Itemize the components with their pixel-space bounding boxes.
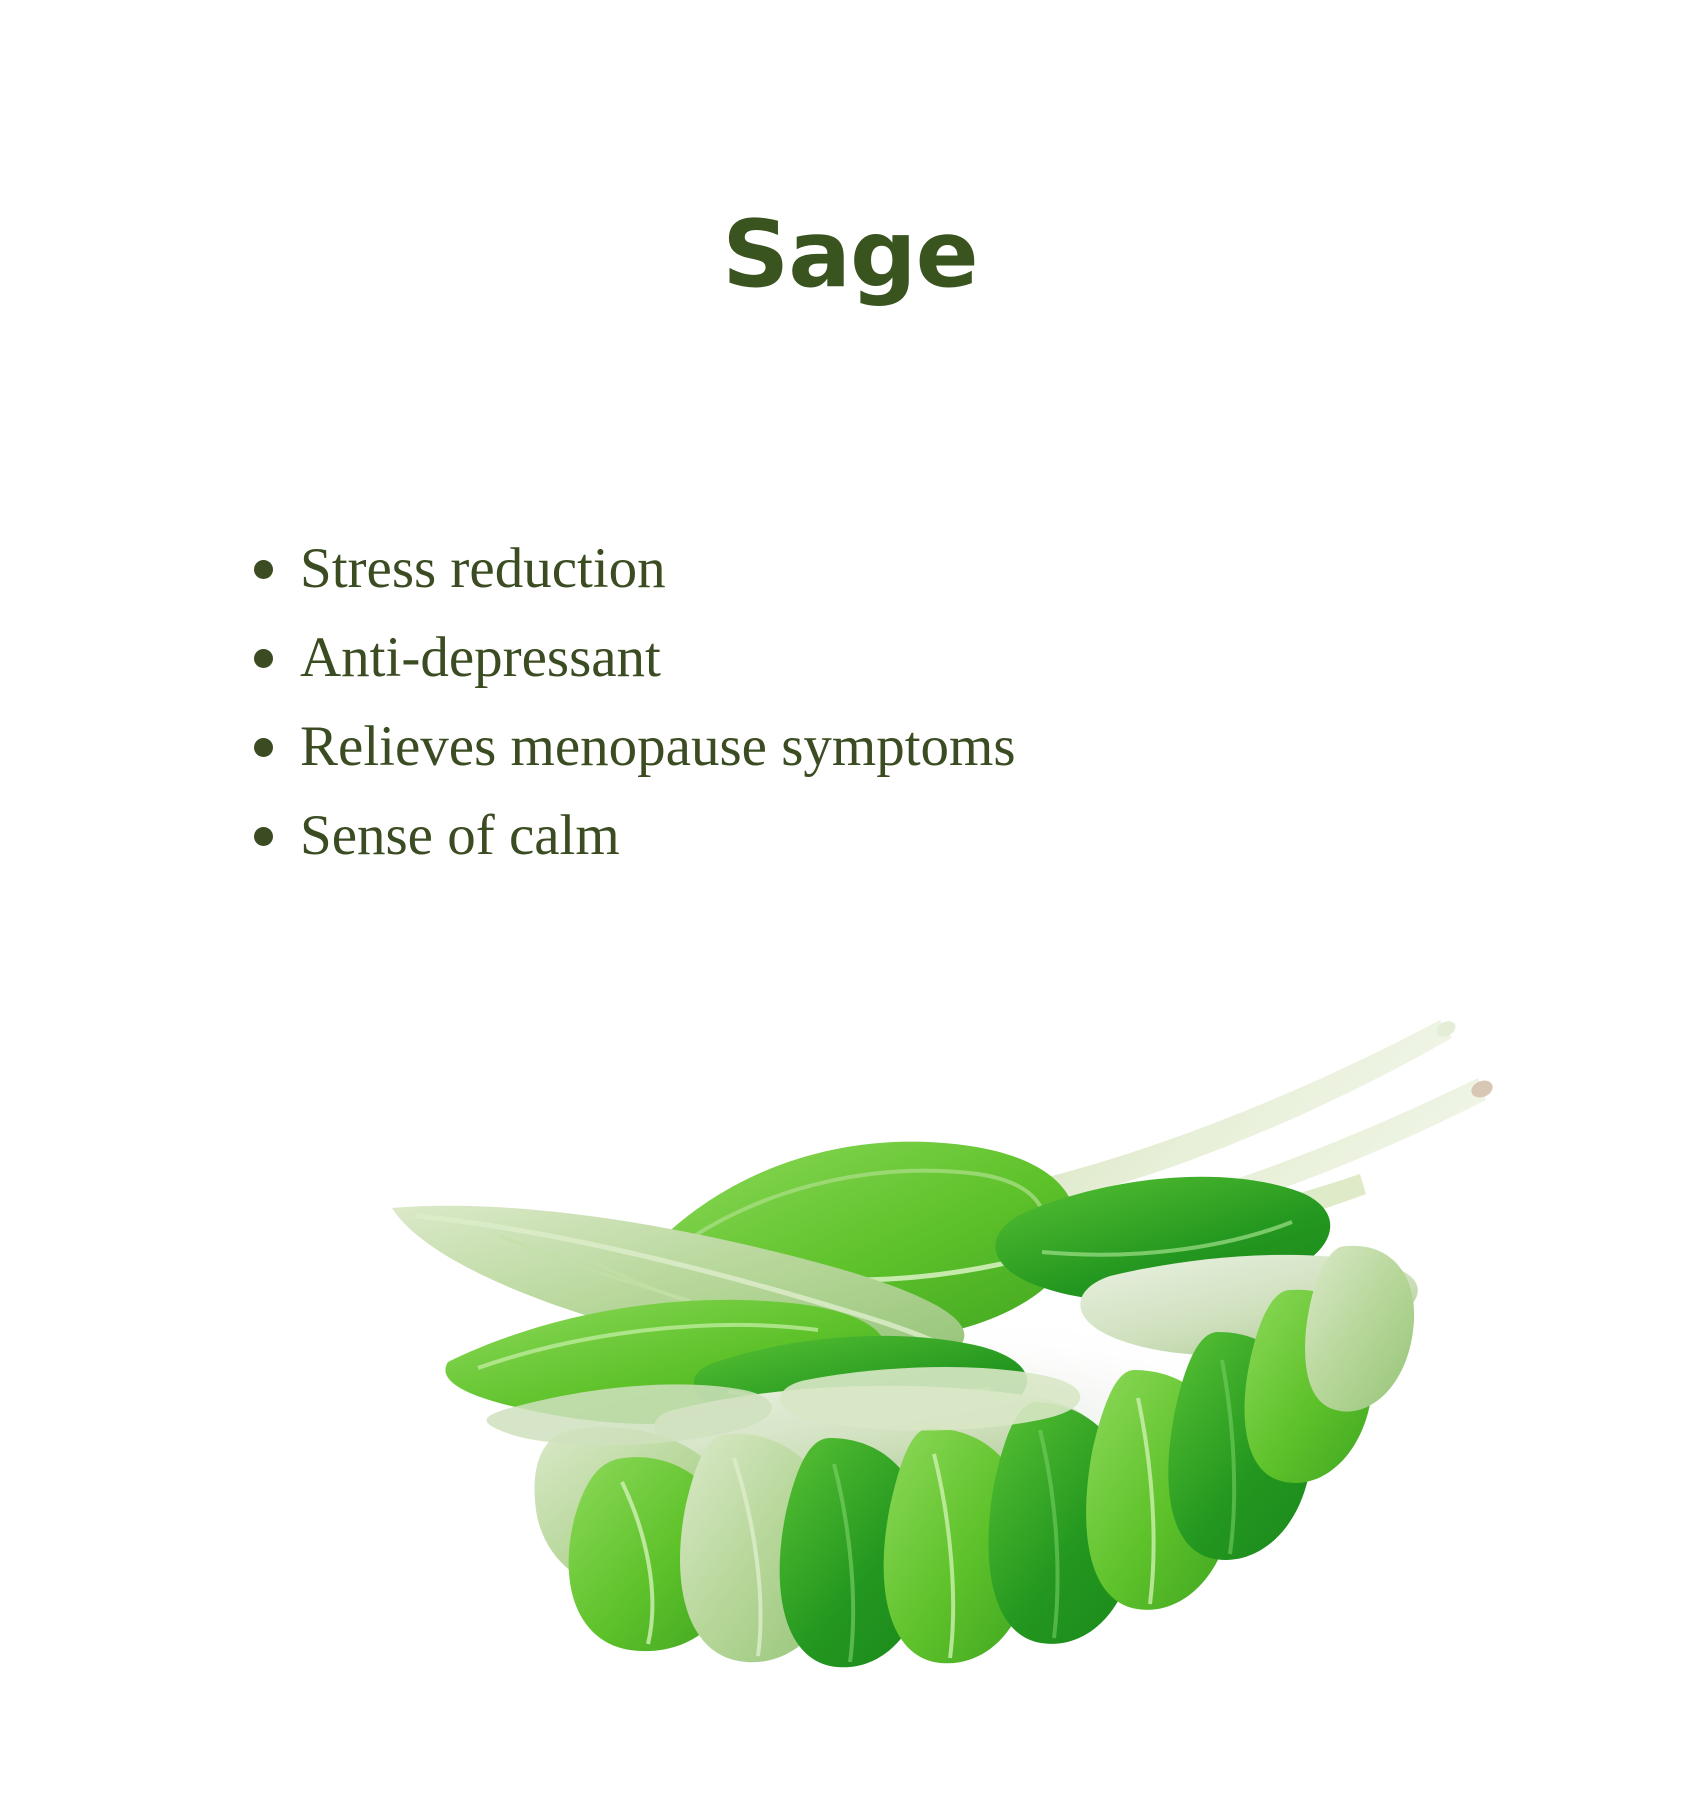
bullet-dot-icon [254, 827, 273, 846]
slide-canvas: Sage Stress reduction Anti-depressant Re… [0, 0, 1700, 1801]
page-title: Sage [0, 206, 1700, 304]
list-item-label: Relieves menopause symptoms [300, 702, 1016, 791]
list-item: Sense of calm [248, 791, 1448, 880]
list-item: Stress reduction [248, 524, 1448, 613]
bullet-dot-icon [254, 738, 273, 757]
sage-plant-photo [330, 960, 1510, 1680]
sage-leaf [1305, 1246, 1414, 1412]
list-item: Relieves menopause symptoms [248, 702, 1448, 791]
list-item-label: Stress reduction [300, 524, 666, 613]
benefits-list: Stress reduction Anti-depressant Relieve… [248, 524, 1448, 880]
bullet-dot-icon [254, 560, 273, 579]
bullet-dot-icon [254, 649, 273, 668]
list-item-label: Anti-depressant [300, 613, 661, 702]
list-item-label: Sense of calm [300, 791, 620, 880]
sage-plant-illustration [330, 960, 1510, 1680]
list-item: Anti-depressant [248, 613, 1448, 702]
